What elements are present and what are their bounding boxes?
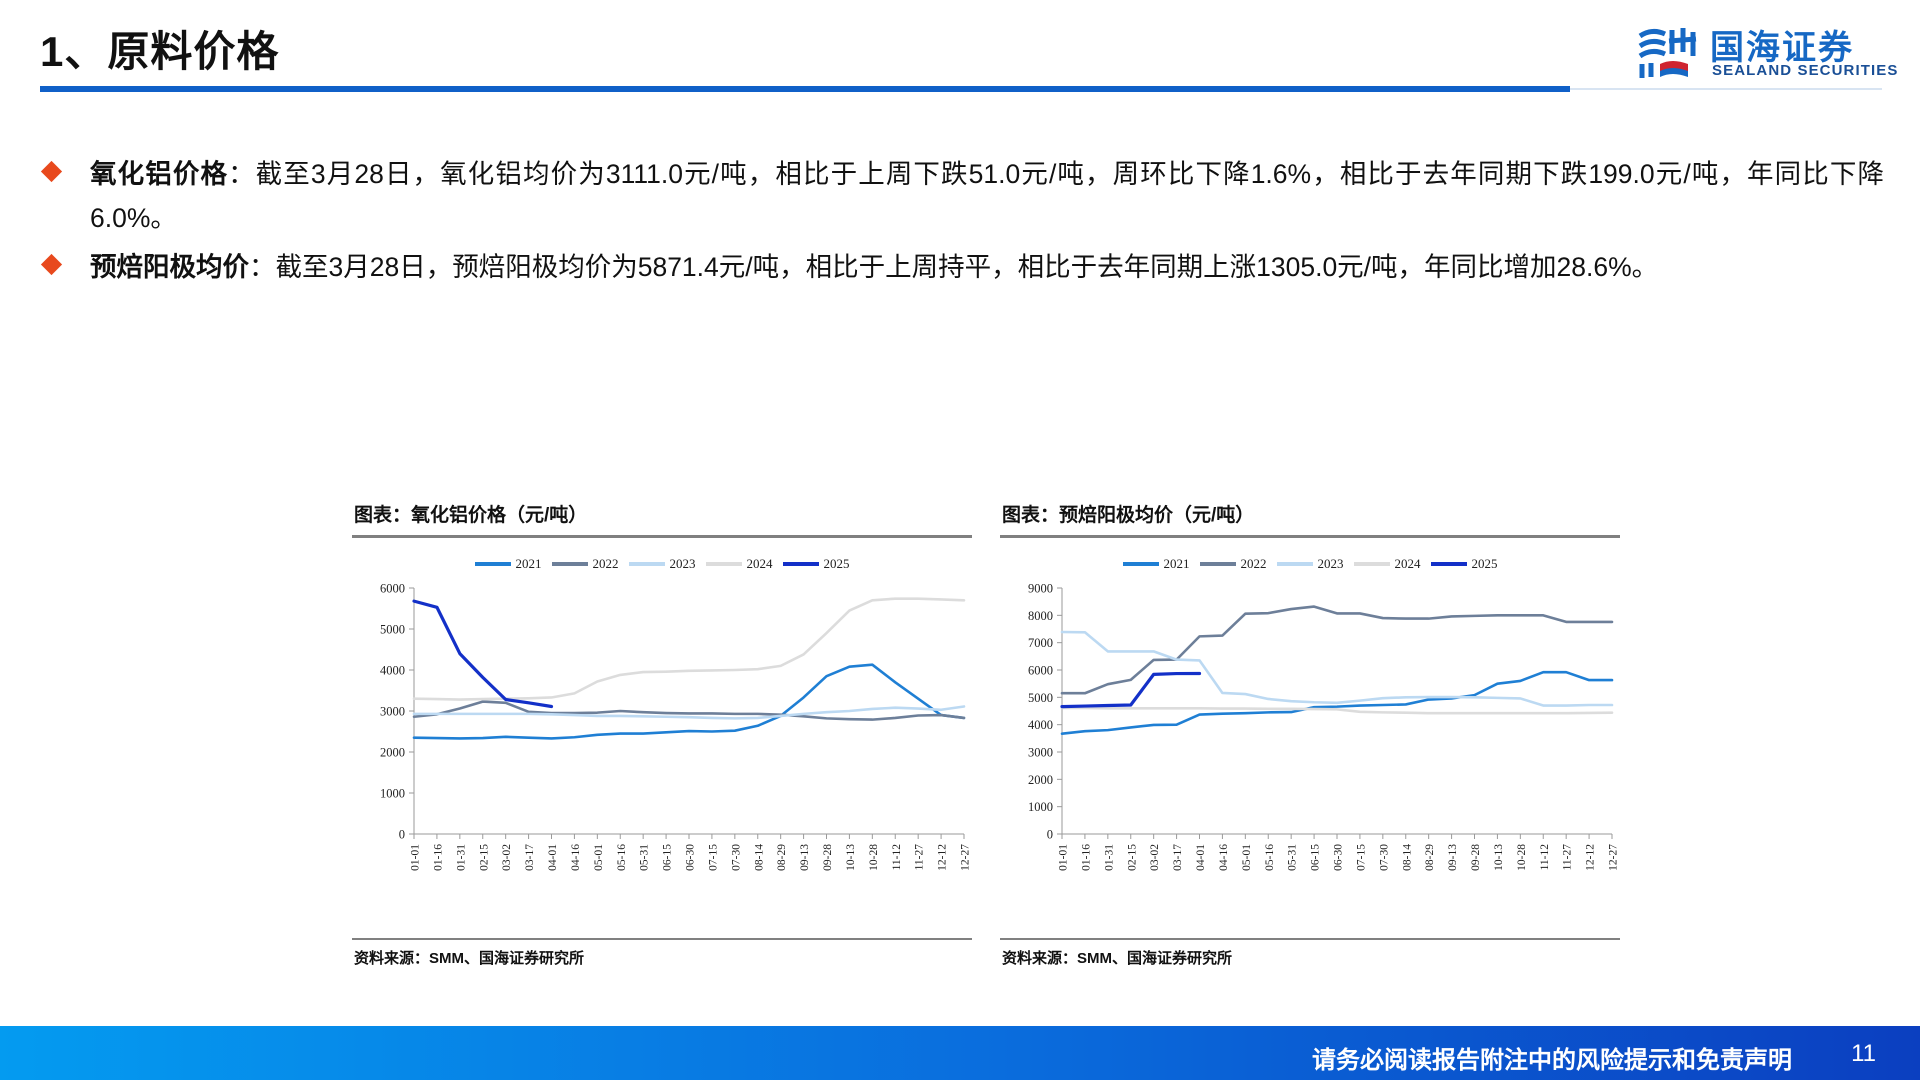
x-axis-tick: 10-13 — [845, 844, 857, 871]
x-axis-tick: 08-29 — [1424, 844, 1436, 871]
x-axis-tick: 06-15 — [662, 844, 674, 871]
x-axis-tick: 08-29 — [776, 844, 788, 871]
x-axis-tick: 07-30 — [730, 844, 742, 871]
y-axis-tick: 4000 — [1028, 718, 1053, 732]
chart-footer-rule — [1000, 938, 1620, 941]
x-axis-tick: 11-27 — [1562, 844, 1574, 871]
y-axis-tick: 1000 — [1028, 800, 1053, 814]
x-axis-tick: 01-16 — [432, 844, 444, 871]
x-axis-tick: 05-31 — [1287, 844, 1299, 871]
x-axis-tick: 01-01 — [1058, 844, 1070, 871]
legend-item-2024: 2024 — [1354, 556, 1421, 572]
x-axis-tick: 10-28 — [1516, 844, 1528, 871]
x-axis-tick: 02-15 — [1126, 844, 1138, 871]
chart-source: 资料来源：SMM、国海证券研究所 — [354, 947, 584, 968]
chart-title-rule — [1000, 535, 1620, 538]
diamond-bullet-icon — [41, 161, 62, 182]
y-axis-tick: 6000 — [380, 582, 405, 596]
legend-label: 2023 — [670, 556, 696, 572]
legend-item-2022: 2022 — [552, 556, 619, 572]
chart-legend: 20212022202320242025 — [1000, 556, 1620, 572]
x-axis-tick: 11-12 — [1539, 844, 1551, 871]
legend-label: 2021 — [1164, 556, 1190, 572]
x-axis-tick: 07-15 — [707, 844, 719, 871]
bullet-lead: 预焙阳极均价 — [90, 252, 249, 282]
y-axis-tick: 2000 — [380, 746, 405, 760]
x-axis-tick: 05-31 — [639, 844, 651, 871]
legend-swatch-icon — [1277, 562, 1313, 566]
legend-label: 2022 — [1241, 556, 1267, 572]
x-axis-tick: 03-02 — [501, 844, 513, 871]
x-axis-tick: 07-15 — [1355, 844, 1367, 871]
chart-panel-alumina: 图表：氧化铝价格（元/吨） 20212022202320242025 01000… — [352, 500, 972, 980]
x-axis-tick: 07-30 — [1378, 844, 1390, 871]
legend-item-2025: 2025 — [1431, 556, 1498, 572]
bullet-lead: 氧化铝价格 — [90, 159, 228, 189]
y-axis-tick: 8000 — [1028, 609, 1053, 623]
x-axis-tick: 04-16 — [570, 844, 582, 871]
legend-label: 2025 — [824, 556, 850, 572]
legend-swatch-icon — [475, 562, 511, 566]
footer-page-number: 11 — [1851, 1040, 1876, 1068]
legend-swatch-icon — [1354, 562, 1390, 566]
x-axis-tick: 09-28 — [822, 844, 834, 871]
legend-swatch-icon — [1431, 562, 1467, 566]
legend-label: 2023 — [1318, 556, 1344, 572]
y-axis-tick: 3000 — [1028, 746, 1053, 760]
y-axis-tick: 6000 — [1028, 664, 1053, 678]
legend-item-2021: 2021 — [1123, 556, 1190, 572]
chart-footer-rule — [352, 938, 972, 941]
chart-title: 图表：氧化铝价格（元/吨） — [352, 500, 972, 527]
legend-item-2021: 2021 — [475, 556, 542, 572]
chart-panel-prebaked-anode: 图表：预焙阳极均价（元/吨） 20212022202320242025 0100… — [1000, 500, 1620, 980]
legend-swatch-icon — [783, 562, 819, 566]
series-line-2022 — [1062, 607, 1612, 694]
x-axis-tick: 05-16 — [1264, 844, 1276, 871]
legend-swatch-icon — [706, 562, 742, 566]
chart-title-rule — [352, 535, 972, 538]
chart-area: 20212022202320242025 0100020003000400050… — [352, 548, 972, 928]
legend-swatch-icon — [629, 562, 665, 566]
x-axis-tick: 01-16 — [1080, 844, 1092, 871]
x-axis-tick: 04-01 — [547, 844, 559, 871]
x-axis-tick: 01-31 — [1103, 844, 1115, 871]
x-axis-tick: 09-13 — [1447, 844, 1459, 871]
legend-label: 2024 — [747, 556, 773, 572]
chart-title: 图表：预焙阳极均价（元/吨） — [1000, 500, 1620, 527]
y-axis-tick: 2000 — [1028, 773, 1053, 787]
x-axis-tick: 03-17 — [1172, 844, 1184, 871]
x-axis-tick: 11-12 — [891, 844, 903, 871]
bullet-prebaked-anode-price: 预焙阳极均价：截至3月28日，预焙阳极均价为5871.4元/吨，相比于上周持平，… — [44, 245, 1884, 289]
x-axis-tick: 06-15 — [1310, 844, 1322, 871]
x-axis-tick: 06-30 — [1333, 844, 1345, 871]
x-axis-tick: 04-01 — [1195, 844, 1207, 871]
diamond-bullet-icon — [41, 254, 62, 275]
x-axis-tick: 05-01 — [593, 844, 605, 871]
header-rule-right — [1570, 88, 1882, 90]
x-axis-tick: 03-17 — [524, 844, 536, 871]
x-axis-tick: 01-31 — [455, 844, 467, 871]
x-axis-tick: 05-16 — [616, 844, 628, 871]
x-axis-tick: 01-01 — [410, 844, 422, 871]
bullet-text: 预焙阳极均价：截至3月28日，预焙阳极均价为5871.4元/吨，相比于上周持平，… — [90, 245, 1884, 289]
x-axis-tick: 12-27 — [1608, 844, 1620, 871]
series-line-2024 — [1062, 708, 1612, 713]
legend-item-2023: 2023 — [1277, 556, 1344, 572]
legend-item-2022: 2022 — [1200, 556, 1267, 572]
logo-english-name: SEALAND SECURITIES — [1712, 62, 1899, 79]
x-axis-tick: 06-30 — [685, 844, 697, 871]
y-axis-tick: 5000 — [380, 623, 405, 637]
sealand-wave-logo-icon — [1636, 24, 1698, 80]
y-axis-tick: 3000 — [380, 705, 405, 719]
legend-label: 2024 — [1395, 556, 1421, 572]
x-axis-tick: 04-16 — [1218, 844, 1230, 871]
x-axis-tick: 10-13 — [1493, 844, 1505, 871]
bullet-body: ：截至3月28日，预焙阳极均价为5871.4元/吨，相比于上周持平，相比于去年同… — [249, 252, 1658, 282]
legend-label: 2022 — [593, 556, 619, 572]
chart-source: 资料来源：SMM、国海证券研究所 — [1002, 947, 1232, 968]
legend-swatch-icon — [552, 562, 588, 566]
x-axis-tick: 12-12 — [937, 844, 949, 871]
legend-label: 2025 — [1472, 556, 1498, 572]
y-axis-tick: 9000 — [1028, 582, 1053, 596]
x-axis-tick: 09-28 — [1470, 844, 1482, 871]
chart-area: 20212022202320242025 0100020003000400050… — [1000, 548, 1620, 928]
x-axis-tick: 03-02 — [1149, 844, 1161, 871]
page-title: 1、原料价格 — [40, 18, 279, 79]
x-axis-tick: 02-15 — [478, 844, 490, 871]
y-axis-tick: 7000 — [1028, 636, 1053, 650]
legend-item-2024: 2024 — [706, 556, 773, 572]
company-logo: 国海证券 SEALAND SECURITIES — [1636, 22, 1894, 84]
x-axis-tick: 08-14 — [753, 844, 765, 871]
x-axis-tick: 11-27 — [914, 844, 926, 871]
y-axis-tick: 4000 — [380, 664, 405, 678]
header-rule — [40, 86, 1570, 92]
x-axis-tick: 12-12 — [1585, 844, 1597, 871]
legend-swatch-icon — [1123, 562, 1159, 566]
legend-label: 2021 — [516, 556, 542, 572]
legend-item-2023: 2023 — [629, 556, 696, 572]
chart-plot: 010002000300040005000600001-0101-1601-31… — [352, 582, 972, 926]
series-line-2024 — [414, 599, 964, 700]
chart-plot: 010002000300040005000600070008000900001-… — [1000, 582, 1620, 926]
x-axis-tick: 12-27 — [960, 844, 972, 871]
y-axis-tick: 0 — [399, 828, 405, 842]
bullet-text: 氧化铝价格：截至3月28日，氧化铝均价为3111.0元/吨，相比于上周下跌51.… — [90, 152, 1884, 240]
x-axis-tick: 05-01 — [1241, 844, 1253, 871]
x-axis-tick: 09-13 — [799, 844, 811, 871]
y-axis-tick: 0 — [1047, 828, 1053, 842]
footer-disclaimer: 请务必阅读报告附注中的风险提示和免责声明 — [1312, 1040, 1792, 1075]
y-axis-tick: 5000 — [1028, 691, 1053, 705]
series-line-2025 — [414, 601, 552, 706]
x-axis-tick: 10-28 — [868, 844, 880, 871]
legend-swatch-icon — [1200, 562, 1236, 566]
bullet-alumina-price: 氧化铝价格：截至3月28日，氧化铝均价为3111.0元/吨，相比于上周下跌51.… — [44, 152, 1884, 240]
chart-legend: 20212022202320242025 — [352, 556, 972, 572]
x-axis-tick: 08-14 — [1401, 844, 1413, 871]
bullet-body: ：截至3月28日，氧化铝均价为3111.0元/吨，相比于上周下跌51.0元/吨，… — [90, 159, 1884, 233]
page-header: 1、原料价格 国海证券 SEALAND SECURITIES — [0, 0, 1920, 100]
page-footer: 请务必阅读报告附注中的风险提示和免责声明 11 — [0, 1026, 1920, 1080]
y-axis-tick: 1000 — [380, 787, 405, 801]
legend-item-2025: 2025 — [783, 556, 850, 572]
